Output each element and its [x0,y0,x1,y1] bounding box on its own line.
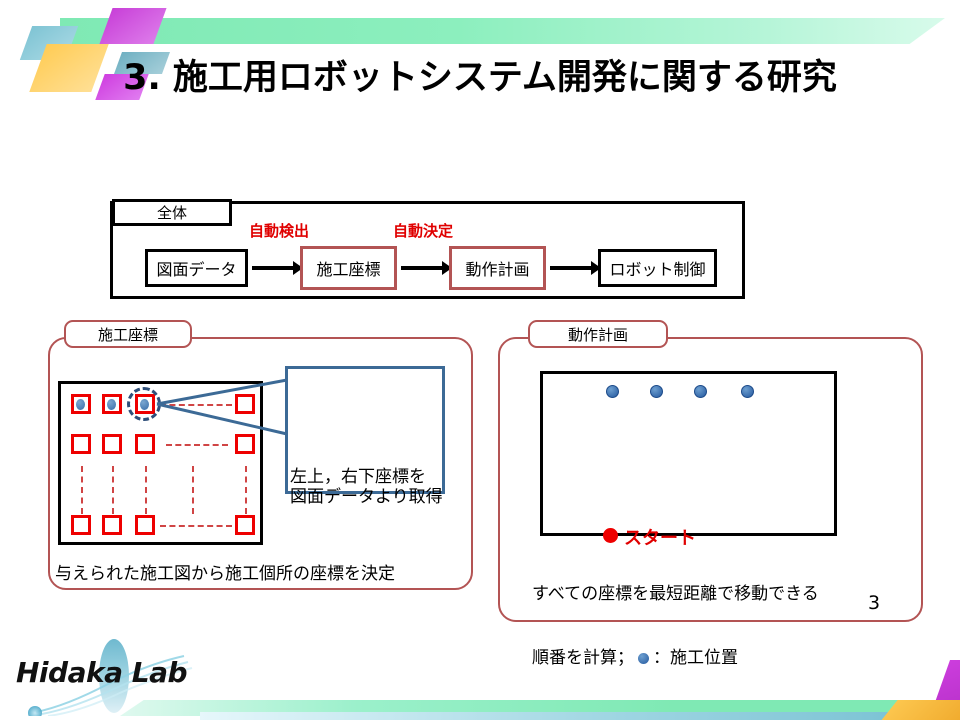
right-panel-tag: 動作計画 [528,320,668,348]
grid-cell-r1c4 [235,394,255,414]
grid-dot-r1c1 [76,399,85,410]
legend-dot-icon [638,653,649,664]
path-point-4 [741,385,754,398]
bottom-teal-bar-decoration [200,712,900,720]
flow-arrow-3 [550,266,592,270]
right-panel-caption-line2: 順番を計算；：施工位置 [532,627,819,670]
grid-dash-col4 [245,466,247,514]
grid-dash-col1 [81,466,83,514]
grid-cell-r3c3 [135,515,155,535]
motion-path-chart [540,371,837,536]
callout-description: 左上，右下座標を 図面データより取得 [290,467,443,508]
flow-label-auto-detect: 自動検出 [249,220,309,241]
top-green-bar-decoration [60,18,945,44]
slide-canvas: 3. 施工用ロボットシステム開発に関する研究 全体 図面データ 施工座標 動作計… [0,0,960,720]
flow-node-construction-coordinates[interactable]: 施工座標 [300,246,397,290]
flow-node-motion-plan[interactable]: 動作計画 [449,246,546,290]
right-panel-caption-line1: すべての座標を最短距離で移動できる [532,584,819,605]
grid-dash-row1 [160,404,232,406]
caption-legend-prefix: 順番を計算； [532,648,634,668]
path-start-label: スタート [624,524,696,550]
grid-dash-row3 [160,525,232,527]
path-point-1 [606,385,619,398]
caption-legend-suffix: ：施工位置 [653,648,738,668]
path-start-dot [603,528,618,543]
grid-cell-r2c2 [102,434,122,454]
grid-cell-r3c1 [71,515,91,535]
path-point-2 [650,385,663,398]
grid-cell-r2c3 [135,434,155,454]
flow-arrow-1 [252,266,294,270]
right-panel-caption: すべての座標を最短距離で移動できる 順番を計算；：施工位置 [532,563,819,691]
page-title: 3. 施工用ロボットシステム開発に関する研究 [0,49,960,100]
grid-dot-r1c2 [107,399,116,410]
flow-arrow-2 [401,266,443,270]
grid-dash-col2 [112,466,114,514]
grid-cell-r3c4 [235,515,255,535]
lab-logo: Hidaka Lab [8,636,238,716]
left-panel-tag: 施工座標 [64,320,192,348]
flow-node-robot-control[interactable]: ロボット制御 [598,249,717,287]
grid-dash-col-mid [192,466,194,514]
grid-cell-r2c1 [71,434,91,454]
flow-node-drawing-data[interactable]: 図面データ [145,249,248,287]
overall-flow-tag: 全体 [112,199,232,226]
grid-cell-r2c4 [235,434,255,454]
highlight-circle-icon [127,387,161,421]
page-number: 3 [868,592,880,614]
grid-dash-row2 [166,444,228,446]
path-point-3 [694,385,707,398]
grid-dash-col3 [145,466,147,514]
grid-cell-r3c2 [102,515,122,535]
left-panel-caption: 与えられた施工図から施工個所の座標を決定 [55,564,395,585]
logo-text: Hidaka Lab [16,656,187,689]
flow-label-auto-decide: 自動決定 [393,220,453,241]
